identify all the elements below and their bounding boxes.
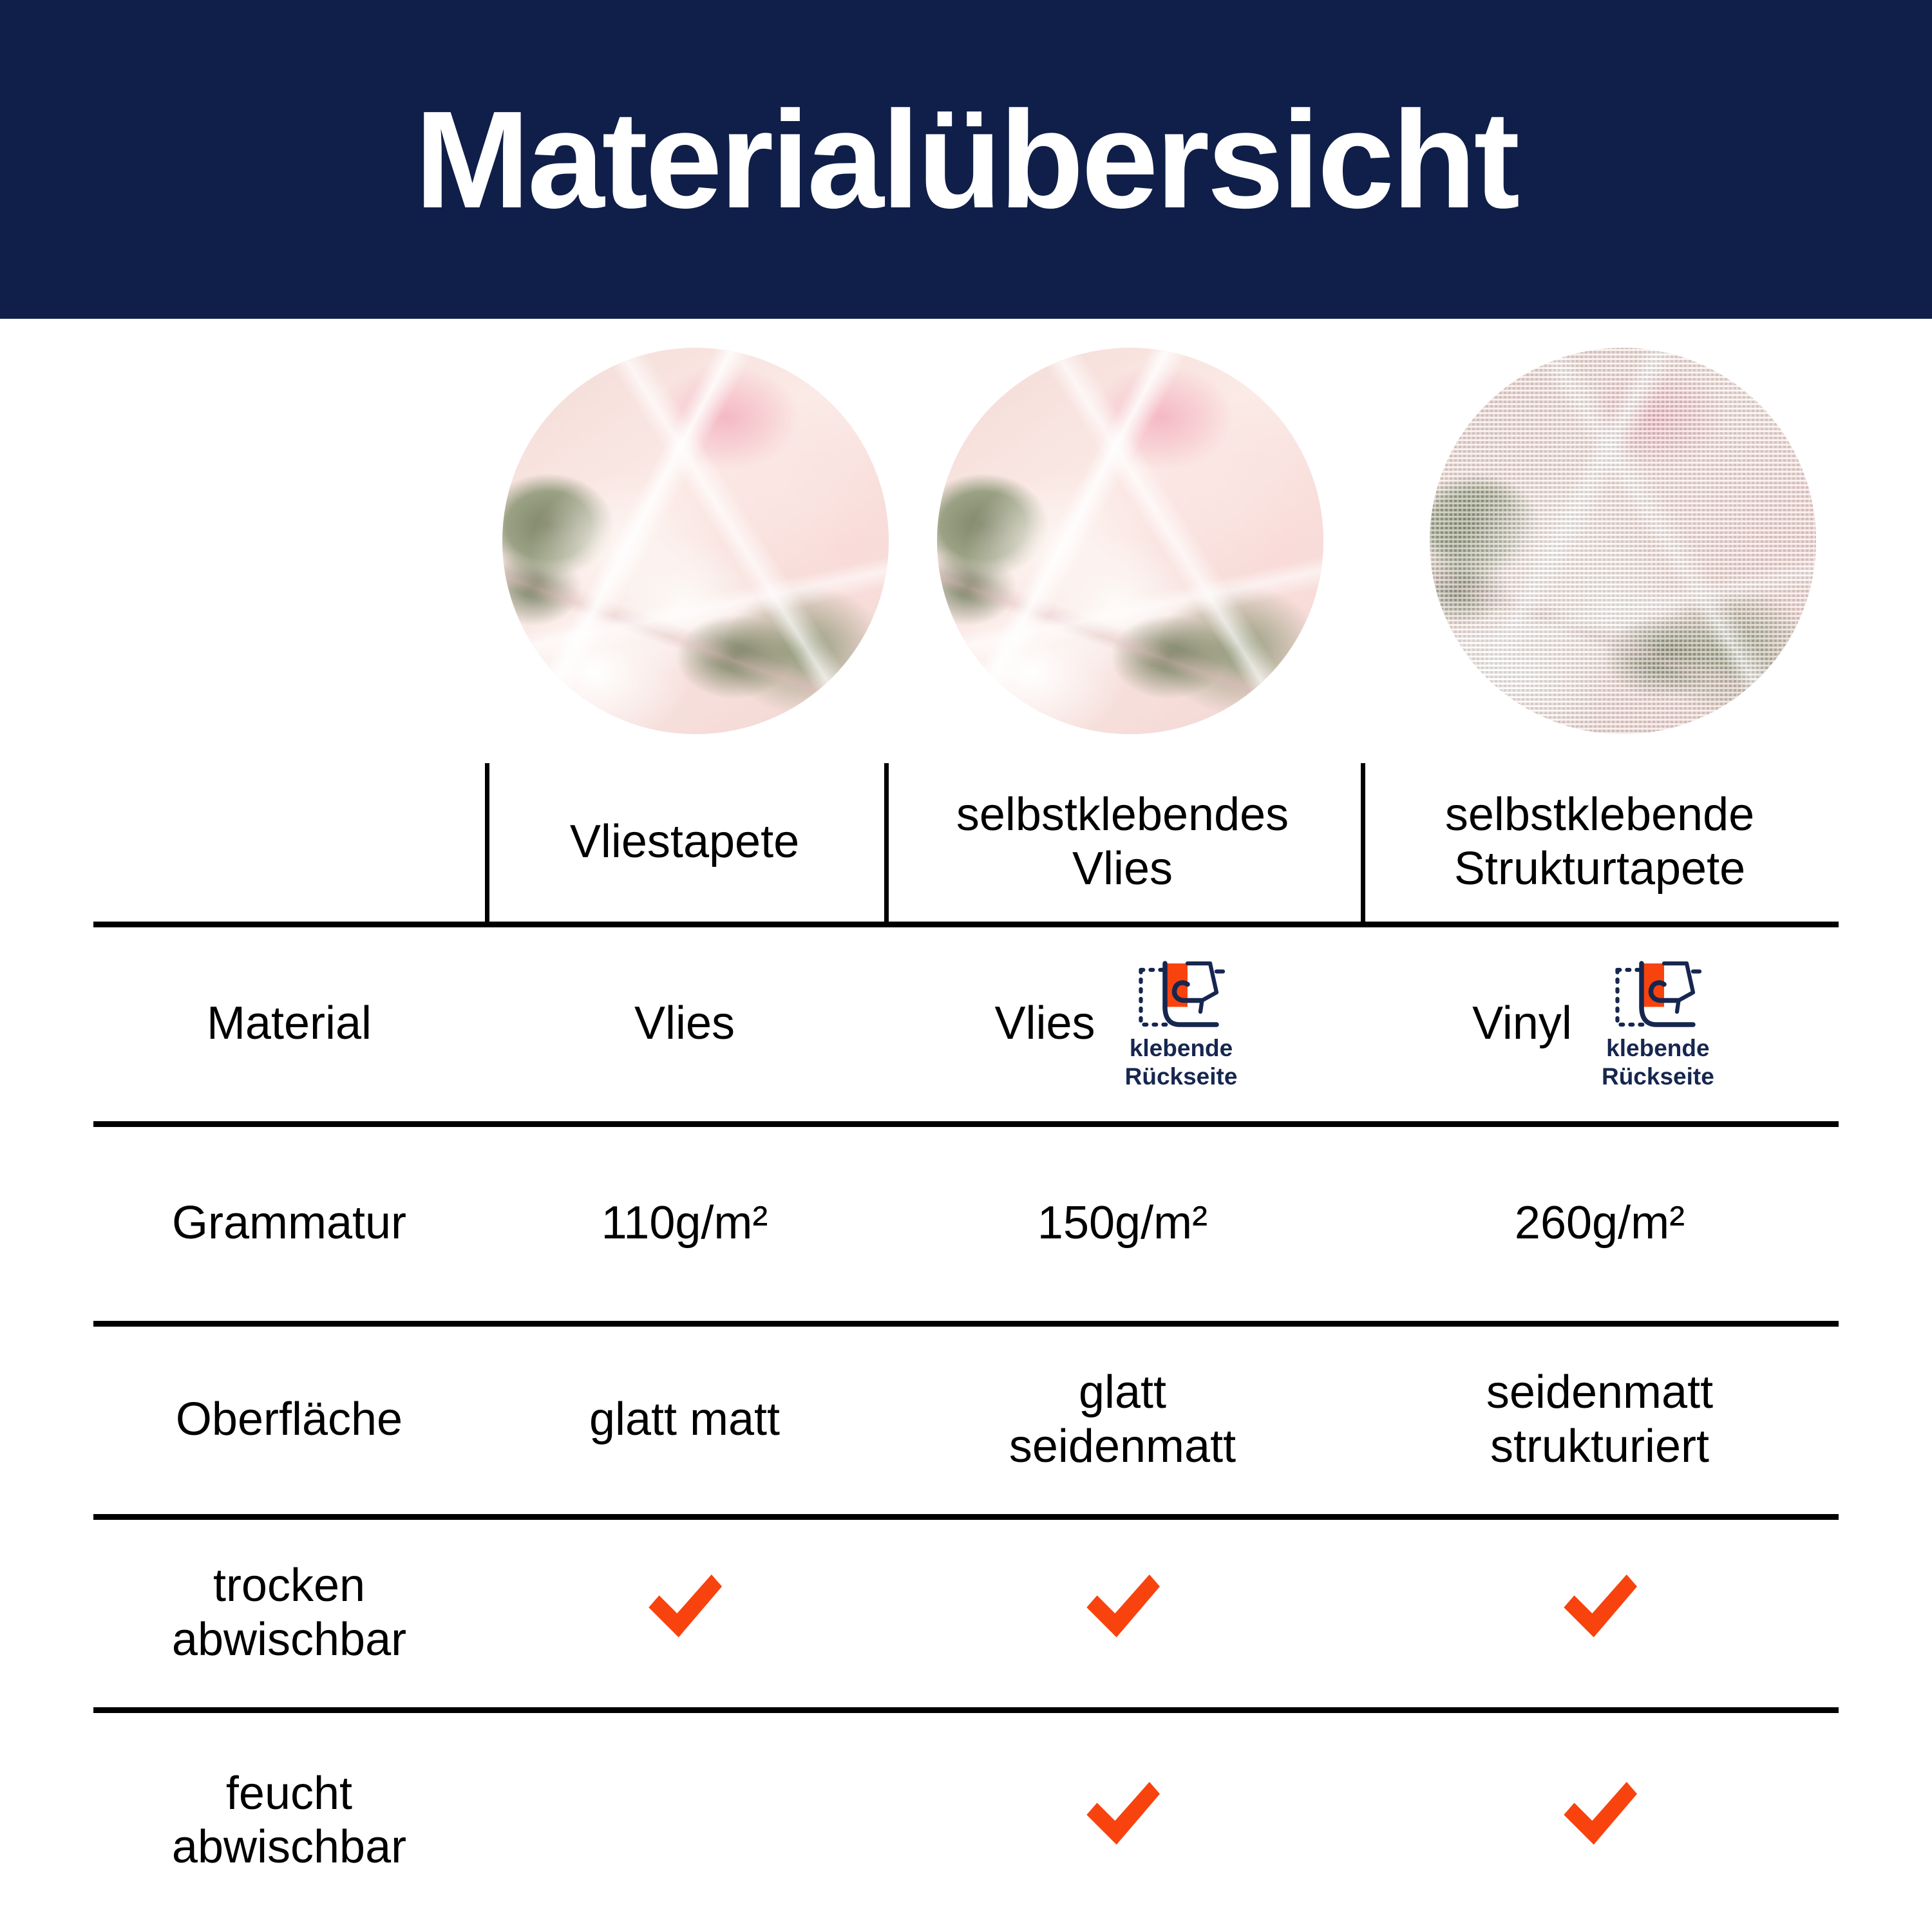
table-row-material: Material Vlies Vlies bbox=[93, 924, 1839, 1124]
cell-oberflaeche-selbstklebende-strukturtapete: seidenmatt strukturiert bbox=[1361, 1323, 1839, 1517]
row-label-feucht-abwischbar: feucht abwischbar bbox=[93, 1710, 485, 1929]
cell-trocken-vliestapete bbox=[485, 1517, 884, 1710]
row-label-material: Material bbox=[93, 924, 485, 1124]
cell-value-line1: glatt matt bbox=[494, 1393, 875, 1447]
cell-grammatur-selbstklebendes-vlies: 150g/m² bbox=[884, 1124, 1361, 1323]
column-label: Vliestapete bbox=[570, 816, 799, 867]
row-label-line2: abwischbar bbox=[102, 1821, 476, 1875]
page-header: Materialübersicht bbox=[0, 0, 1932, 319]
row-label-oberflaeche: Oberfläche bbox=[93, 1323, 485, 1517]
column-label-line2: Vlies bbox=[893, 842, 1352, 896]
table-row-grammatur: Grammatur 110g/m² 150g/m² 260g/m² bbox=[93, 1124, 1839, 1323]
badge-line-1: klebende bbox=[1130, 1034, 1233, 1063]
checkmark-icon bbox=[639, 1566, 730, 1649]
rose-photo bbox=[937, 348, 1323, 734]
column-label-line2: Strukturtapete bbox=[1370, 842, 1830, 896]
sample-swatch-selbstklebende-strukturtapete bbox=[1430, 348, 1816, 734]
sample-swatch-vliestapete bbox=[502, 348, 889, 734]
checkmark-icon bbox=[1077, 1566, 1168, 1649]
rose-photo bbox=[502, 348, 889, 734]
cell-value: Vinyl bbox=[1472, 997, 1572, 1051]
header-cell-empty bbox=[93, 763, 485, 924]
adhesive-backing-icon bbox=[1609, 957, 1706, 1034]
column-label-line1: selbstklebendes bbox=[893, 788, 1352, 842]
cell-value: Vlies bbox=[994, 997, 1095, 1051]
cell-oberflaeche-selbstklebendes-vlies: glatt seidenmatt bbox=[884, 1323, 1361, 1517]
cell-material-vliestapete: Vlies bbox=[485, 924, 884, 1124]
row-label-grammatur: Grammatur bbox=[93, 1124, 485, 1323]
sample-swatch-row bbox=[0, 319, 1932, 763]
adhesive-backing-badge: klebende Rückseite bbox=[1589, 957, 1727, 1090]
badge-line-1: klebende bbox=[1606, 1034, 1709, 1063]
checkmark-icon bbox=[1555, 1566, 1645, 1649]
table-row-trocken-abwischbar: trocken abwischbar bbox=[93, 1517, 1839, 1710]
table-row-feucht-abwischbar: feucht abwischbar bbox=[93, 1710, 1839, 1929]
badge-line-2: Rückseite bbox=[1125, 1063, 1238, 1091]
checkmark-icon bbox=[1555, 1773, 1645, 1857]
row-label-line2: abwischbar bbox=[102, 1613, 476, 1667]
header-cell-vliestapete: Vliestapete bbox=[485, 763, 884, 924]
cell-material-selbstklebende-strukturtapete: Vinyl bbox=[1361, 924, 1839, 1124]
column-label-line1: selbstklebende bbox=[1370, 788, 1830, 842]
badge-line-2: Rückseite bbox=[1602, 1063, 1714, 1091]
cell-value-line2: seidenmatt bbox=[893, 1420, 1352, 1474]
cell-material-selbstklebendes-vlies: Vlies bbox=[884, 924, 1361, 1124]
row-label-line1: feucht bbox=[102, 1767, 476, 1821]
cell-feucht-selbstklebende-strukturtapete bbox=[1361, 1710, 1839, 1929]
material-comparison-table-wrapper: Vliestapete selbstklebendes Vlies selbst… bbox=[0, 763, 1932, 1932]
sample-swatch-selbstklebendes-vlies bbox=[937, 348, 1323, 734]
header-cell-selbstklebendes-vlies: selbstklebendes Vlies bbox=[884, 763, 1361, 924]
cell-value-line1: seidenmatt bbox=[1370, 1366, 1830, 1420]
table-header-row: Vliestapete selbstklebendes Vlies selbst… bbox=[93, 763, 1839, 924]
cell-value-line2: strukturiert bbox=[1370, 1420, 1830, 1474]
row-label-trocken-abwischbar: trocken abwischbar bbox=[93, 1517, 485, 1710]
cell-trocken-selbstklebende-strukturtapete bbox=[1361, 1517, 1839, 1710]
cell-trocken-selbstklebendes-vlies bbox=[884, 1517, 1361, 1710]
material-comparison-table: Vliestapete selbstklebendes Vlies selbst… bbox=[93, 763, 1839, 1929]
page-title: Materialübersicht bbox=[415, 90, 1517, 229]
header-cell-selbstklebende-strukturtapete: selbstklebende Strukturtapete bbox=[1361, 763, 1839, 924]
checkmark-icon bbox=[1077, 1773, 1168, 1857]
cell-oberflaeche-vliestapete: glatt matt bbox=[485, 1323, 884, 1517]
cell-feucht-vliestapete bbox=[485, 1710, 884, 1929]
table-row-oberflaeche: Oberfläche glatt matt glatt seidenmatt s… bbox=[93, 1323, 1839, 1517]
cell-grammatur-vliestapete: 110g/m² bbox=[485, 1124, 884, 1323]
adhesive-backing-icon bbox=[1133, 957, 1229, 1034]
adhesive-backing-badge: klebende Rückseite bbox=[1112, 957, 1251, 1090]
row-label-line1: trocken bbox=[102, 1559, 476, 1613]
cell-value: Vlies bbox=[634, 998, 735, 1049]
cell-grammatur-selbstklebende-strukturtapete: 260g/m² bbox=[1361, 1124, 1839, 1323]
cell-value-line1: glatt bbox=[893, 1366, 1352, 1420]
cell-feucht-selbstklebendes-vlies bbox=[884, 1710, 1361, 1929]
texture-overlay bbox=[1430, 348, 1816, 734]
